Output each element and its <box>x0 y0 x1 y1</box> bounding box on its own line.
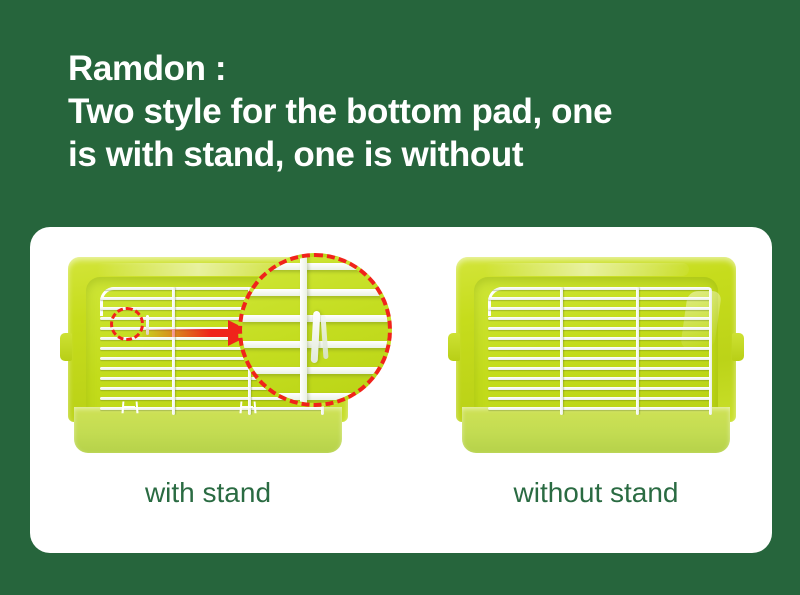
tray-photo-with-stand <box>38 245 378 460</box>
wire-vertical <box>300 253 307 407</box>
wire-horizontal <box>488 317 712 320</box>
wire-horizontal <box>488 357 712 360</box>
wire-horizontal <box>488 397 712 400</box>
wire-horizontal <box>488 337 712 340</box>
page-title: Ramdon : Two style for the bottom pad, o… <box>68 47 768 176</box>
tray-side-tab-left <box>448 333 460 361</box>
wire-grid <box>488 287 712 415</box>
product-list: with stand <box>30 227 772 553</box>
magnified-grid <box>238 253 392 407</box>
stand-leg <box>239 401 256 413</box>
arrow-shaft <box>142 329 234 337</box>
wire-horizontal <box>238 393 392 400</box>
wire-horizontal <box>238 263 392 270</box>
wire-horizontal <box>488 367 712 370</box>
headline-line-3: is with stand, one is without <box>68 133 768 176</box>
wire-horizontal <box>488 407 712 410</box>
product-item-with-stand: with stand <box>38 245 378 535</box>
wire-horizontal <box>488 377 712 380</box>
stand-magnified-view <box>238 253 392 407</box>
wire-horizontal <box>488 287 712 290</box>
wire-vertical <box>560 287 563 415</box>
wire-horizontal <box>488 347 712 350</box>
tray-gloss-highlight <box>484 263 689 276</box>
wire-vertical <box>172 287 175 415</box>
product-caption-with-stand: with stand <box>38 477 378 509</box>
wire-horizontal <box>488 327 712 330</box>
wire-vertical <box>636 287 639 415</box>
plastic-tray <box>448 257 744 453</box>
wire-horizontal <box>488 297 712 300</box>
product-item-without-stand: without stand <box>426 245 766 535</box>
wire-vertical <box>709 287 712 415</box>
wire-horizontal <box>488 387 712 390</box>
stand-leg <box>121 401 138 413</box>
headline-line-1: Ramdon : <box>68 47 768 90</box>
tray-side-tab-left <box>60 333 72 361</box>
wire-horizontal <box>488 307 712 310</box>
product-comparison-card: with stand <box>30 227 772 553</box>
headline-line-2: Two style for the bottom pad, one <box>68 90 768 133</box>
product-feature-banner: Ramdon : Two style for the bottom pad, o… <box>0 0 800 595</box>
tray-photo-without-stand <box>426 245 766 460</box>
wire-grid-corner <box>488 287 517 316</box>
wire-horizontal <box>238 367 392 374</box>
stand-wire-upright-magnified <box>311 311 321 363</box>
stand-detail-highlight-circle <box>110 307 144 341</box>
tray-side-tab-right <box>732 333 744 361</box>
wire-horizontal <box>238 289 392 296</box>
product-caption-without-stand: without stand <box>426 477 766 509</box>
